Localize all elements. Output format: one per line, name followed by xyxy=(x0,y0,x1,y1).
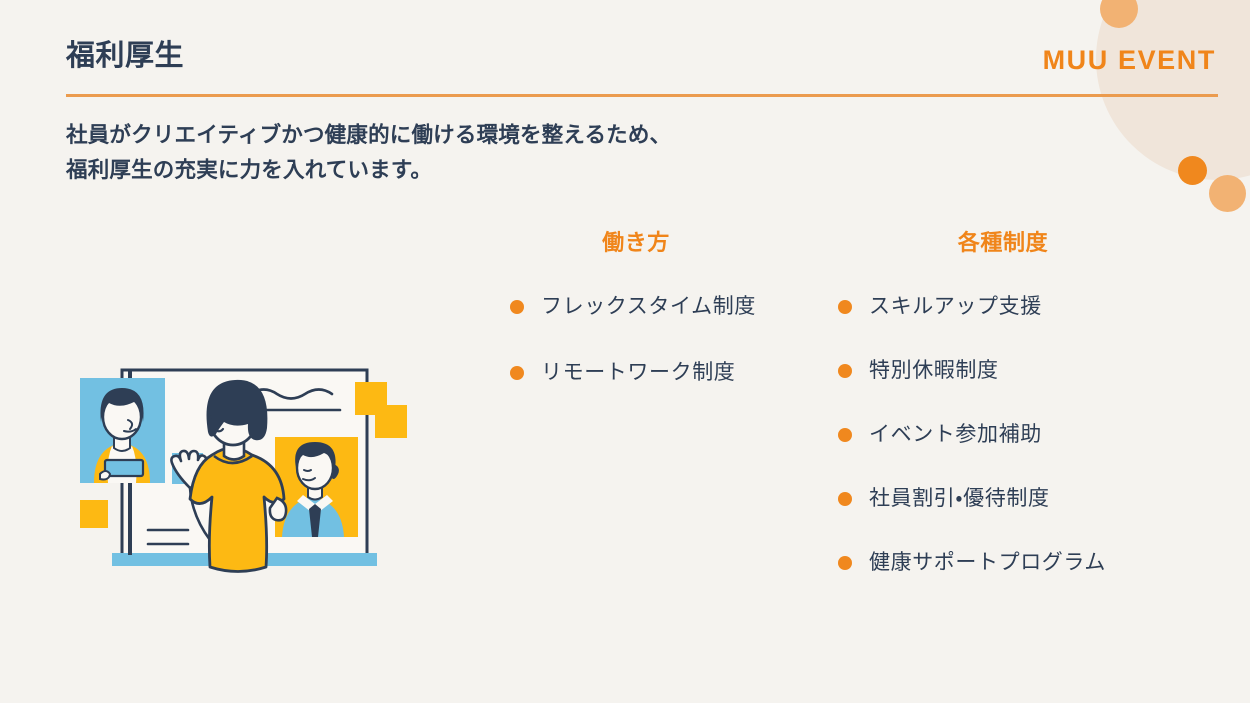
bullet-dot-icon xyxy=(510,300,524,314)
bullet-dot-icon xyxy=(510,366,524,380)
column-heading-systems: 各種制度 xyxy=(820,228,1220,254)
video-card-left xyxy=(80,378,165,483)
bullet-dot-icon xyxy=(838,364,852,378)
list-item: フレックスタイム制度 xyxy=(510,294,830,320)
decorative-dot-lower xyxy=(1209,175,1246,212)
remote-meeting-illustration xyxy=(72,360,412,630)
list-item: 社員割引・優待制度 xyxy=(838,486,1220,512)
sticky-note-left xyxy=(80,500,108,528)
decorative-dot-middle xyxy=(1178,156,1207,185)
list-item: イベント参加補助 xyxy=(838,422,1220,448)
list-item: 特別休暇制度 xyxy=(838,358,1220,384)
brand-label: MUU EVENT xyxy=(1043,47,1216,74)
video-card-right xyxy=(275,437,358,537)
header-divider xyxy=(66,94,1218,97)
list-item: スキルアップ支援 xyxy=(838,294,1220,320)
list-item: 健康サポートプログラム xyxy=(838,550,1220,576)
page-title: 福利厚生 xyxy=(66,42,184,71)
bullet-dot-icon xyxy=(838,428,852,442)
bullet-dot-icon xyxy=(838,556,852,570)
list-item-label: 社員割引・優待制度 xyxy=(869,486,1050,511)
list-item-label: 健康サポートプログラム xyxy=(869,550,1106,575)
slide-root: 福利厚生 MUU EVENT 社員がクリエイティブかつ健康的に働ける環境を整える… xyxy=(0,0,1250,703)
list-item-label: フレックスタイム制度 xyxy=(541,294,756,319)
lead-line-1: 社員がクリエイティブかつ健康的に働ける環境を整えるため、 xyxy=(66,118,671,153)
list-item-label: スキルアップ支援 xyxy=(869,294,1042,319)
list-item: リモートワーク制度 xyxy=(510,360,830,386)
slide-header: 福利厚生 MUU EVENT xyxy=(0,0,1250,100)
column-worklife: 働き方 フレックスタイム制度 リモートワーク制度 xyxy=(460,228,830,426)
column-heading-worklife: 働き方 xyxy=(460,228,830,254)
lead-line-2: 福利厚生の充実に力を入れています。 xyxy=(66,153,671,188)
bullet-dot-icon xyxy=(838,492,852,506)
illustration-svg xyxy=(72,360,412,630)
bullet-list-systems: スキルアップ支援 特別休暇制度 イベント参加補助 社員割引・優待制度 健康サポー… xyxy=(838,294,1220,576)
lead-paragraph: 社員がクリエイティブかつ健康的に働ける環境を整えるため、 福利厚生の充実に力を入… xyxy=(66,118,671,188)
list-item-label: 特別休暇制度 xyxy=(869,358,999,383)
bullet-list-worklife: フレックスタイム制度 リモートワーク制度 xyxy=(510,294,830,386)
list-item-label: リモートワーク制度 xyxy=(541,360,735,385)
bullet-dot-icon xyxy=(838,300,852,314)
column-systems: 各種制度 スキルアップ支援 特別休暇制度 イベント参加補助 社員割引・優待制度 xyxy=(820,228,1220,614)
list-item-label: イベント参加補助 xyxy=(869,422,1042,447)
